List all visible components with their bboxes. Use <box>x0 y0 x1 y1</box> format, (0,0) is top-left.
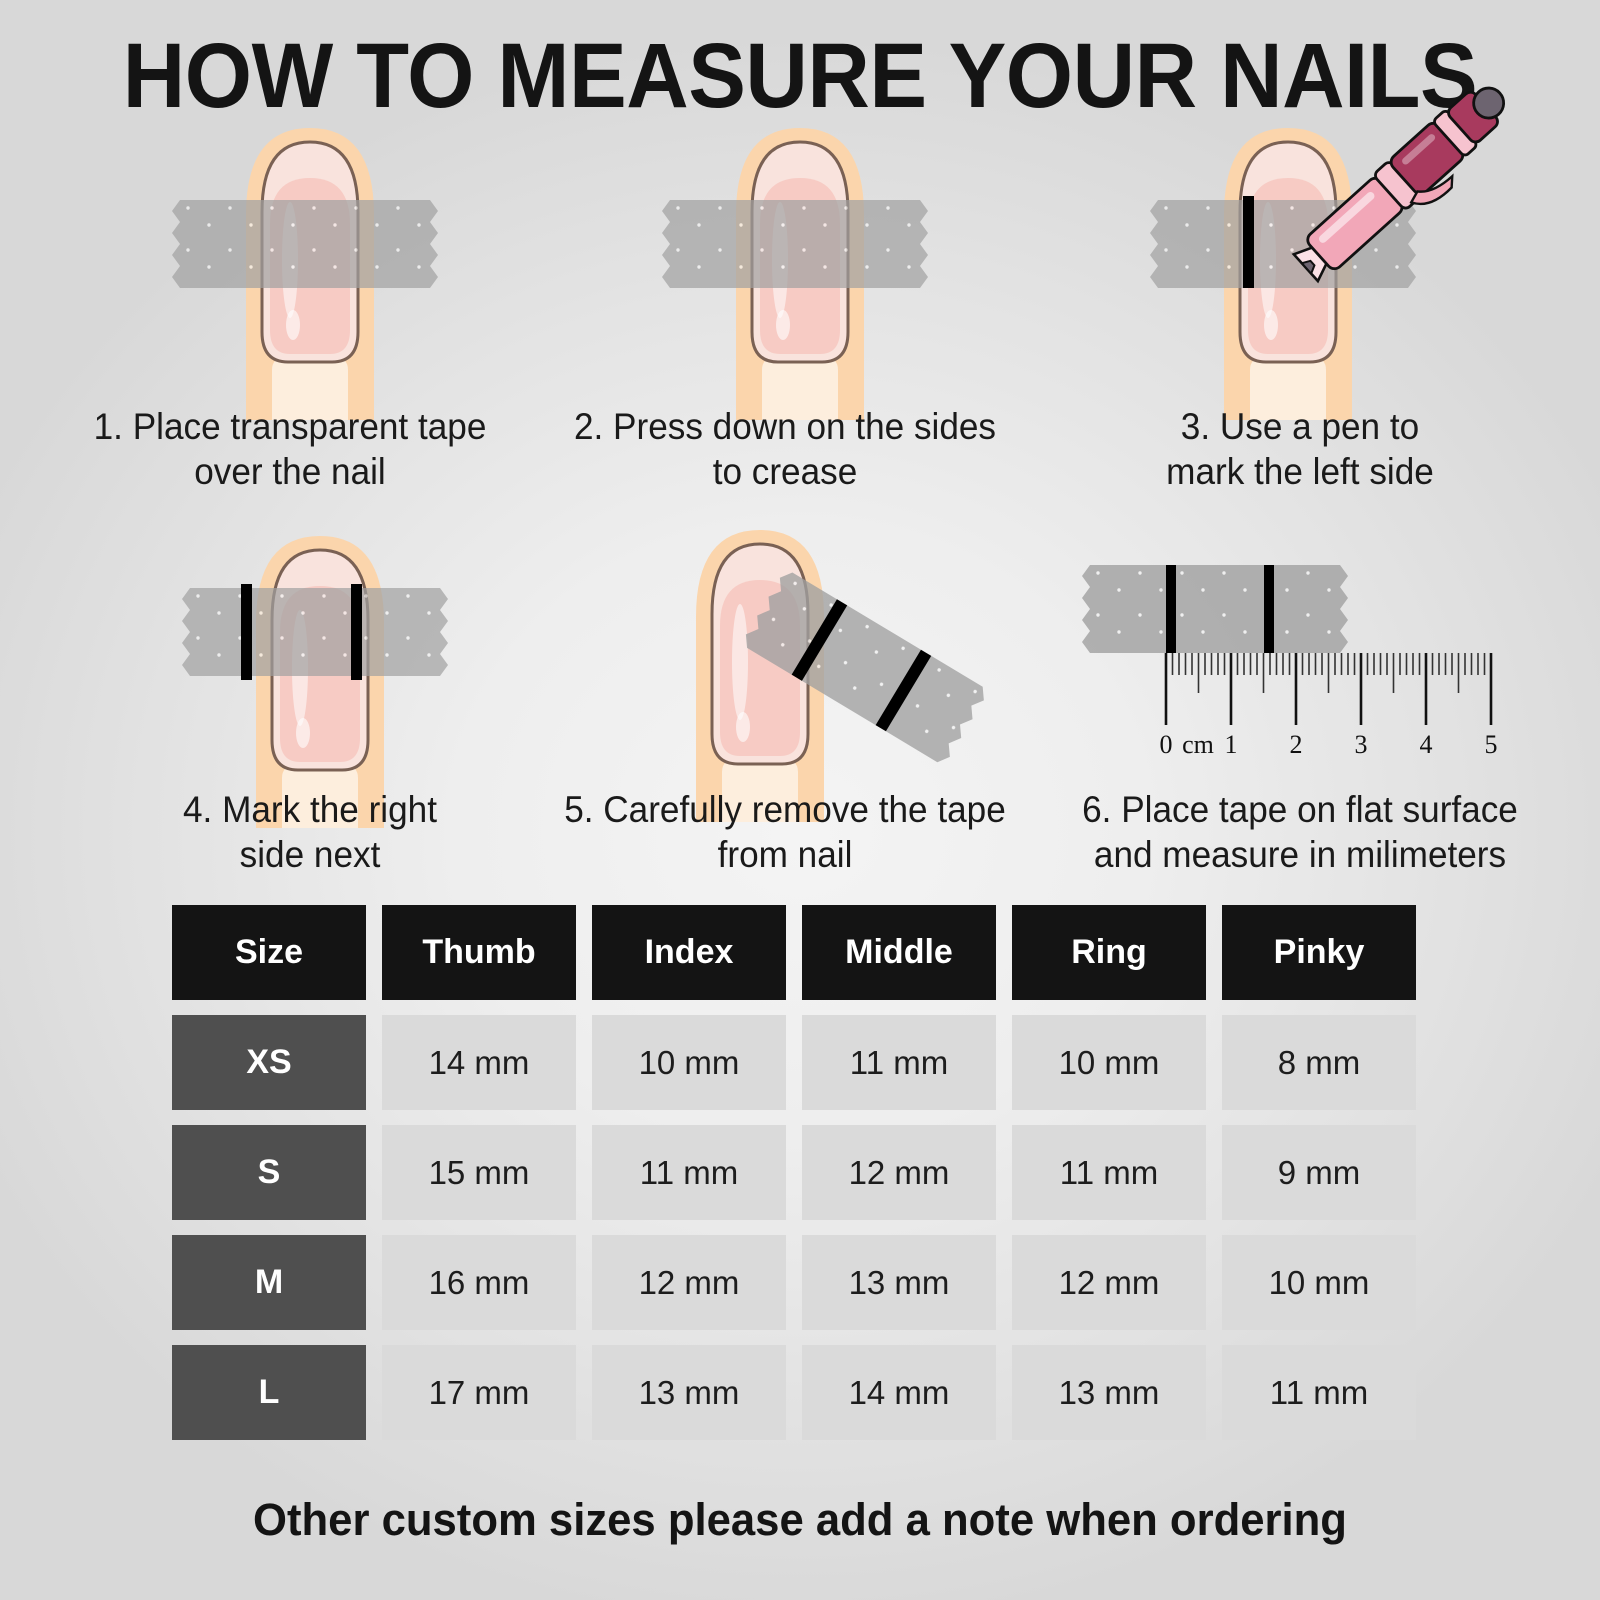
cell-xs-thumb: 14 mm <box>382 1015 576 1110</box>
step-1-caption: 1. Place transparent tape over the nail <box>72 405 509 495</box>
step-1-caption-line2: over the nail <box>72 450 509 495</box>
cell-xs-ring: 10 mm <box>1012 1015 1206 1110</box>
cell-l-ring: 13 mm <box>1012 1345 1206 1440</box>
cell-m-index: 12 mm <box>592 1235 786 1330</box>
step-6-caption-line2: and measure in milimeters <box>1048 833 1552 878</box>
step-4-caption: 4. Mark the right side next <box>120 788 500 878</box>
ruler-scale <box>1166 653 1491 725</box>
right-mark <box>1264 565 1274 653</box>
table-header-row: SizeThumbIndexMiddleRingPinky <box>172 905 1432 1000</box>
table-row: M16 mm12 mm13 mm12 mm10 mm <box>172 1235 1432 1330</box>
pen-marking-left-icon <box>1118 118 1478 410</box>
step-2-caption: 2. Press down on the sides to crease <box>564 405 1007 495</box>
size-label-l: L <box>172 1345 366 1440</box>
step-6-caption-line1: 6. Place tape on flat surface <box>1048 788 1552 833</box>
table-body: XS14 mm10 mm11 mm10 mm8 mmS15 mm11 mm12 … <box>172 1015 1432 1440</box>
cell-m-pinky: 10 mm <box>1222 1235 1416 1330</box>
cell-m-ring: 12 mm <box>1012 1235 1206 1330</box>
two-marks-icon <box>150 508 490 794</box>
ruler-labels: 012345cm <box>1160 730 1498 759</box>
table-row: L17 mm13 mm14 mm13 mm11 mm <box>172 1345 1432 1440</box>
ruler-measure-icon: 012345cm <box>1060 545 1520 770</box>
footer-note: Other custom sizes please add a note whe… <box>24 1494 1576 1546</box>
table-row: XS14 mm10 mm11 mm10 mm8 mm <box>172 1015 1432 1110</box>
cell-xs-middle: 11 mm <box>802 1015 996 1110</box>
cell-s-middle: 12 mm <box>802 1125 996 1220</box>
table-header-size: Size <box>172 905 366 1000</box>
peeling-tape-icon <box>630 508 1030 800</box>
cell-m-middle: 13 mm <box>802 1235 996 1330</box>
ruler-label-3: 3 <box>1355 730 1368 759</box>
left-mark <box>1243 196 1254 288</box>
table-header-thumb: Thumb <box>382 905 576 1000</box>
cell-s-thumb: 15 mm <box>382 1125 576 1220</box>
table-header-pinky: Pinky <box>1222 905 1416 1000</box>
size-chart-table: SizeThumbIndexMiddleRingPinky XS14 mm10 … <box>172 905 1432 1440</box>
cell-xs-pinky: 8 mm <box>1222 1015 1416 1110</box>
table-header-index: Index <box>592 905 786 1000</box>
cell-s-ring: 11 mm <box>1012 1125 1206 1220</box>
infographic-root: HOW TO MEASURE YOUR NAILS <box>0 0 1600 1600</box>
cell-m-thumb: 16 mm <box>382 1235 576 1330</box>
step-2-caption-line1: 2. Press down on the sides <box>564 405 1007 450</box>
cell-s-pinky: 9 mm <box>1222 1125 1416 1220</box>
step-1-caption-line1: 1. Place transparent tape <box>72 405 509 450</box>
cell-l-middle: 14 mm <box>802 1345 996 1440</box>
cell-l-pinky: 11 mm <box>1222 1345 1416 1440</box>
ruler-label-4: 4 <box>1420 730 1433 759</box>
right-mark <box>351 584 362 680</box>
finger-with-creased-tape-icon <box>630 128 970 410</box>
step-4-caption-line2: side next <box>120 833 500 878</box>
left-mark <box>241 584 252 680</box>
step-3-caption-line1: 3. Use a pen to <box>1101 405 1500 450</box>
ruler-label-2: 2 <box>1290 730 1303 759</box>
cell-xs-index: 10 mm <box>592 1015 786 1110</box>
ruler-unit-label: cm <box>1182 730 1214 759</box>
size-label-m: M <box>172 1235 366 1330</box>
size-label-s: S <box>172 1125 366 1220</box>
ruler-label-0: 0 <box>1160 730 1173 759</box>
left-mark <box>1166 565 1176 653</box>
step-5-caption-line2: from nail <box>552 833 1018 878</box>
step-3-caption: 3. Use a pen to mark the left side <box>1101 405 1500 495</box>
table-header-ring: Ring <box>1012 905 1206 1000</box>
cell-l-thumb: 17 mm <box>382 1345 576 1440</box>
table-header-middle: Middle <box>802 905 996 1000</box>
finger-with-tape-icon <box>140 128 480 410</box>
step-5-caption: 5. Carefully remove the tape from nail <box>552 788 1018 878</box>
ruler-label-1: 1 <box>1225 730 1238 759</box>
step-6-caption: 6. Place tape on flat surface and measur… <box>1048 788 1552 878</box>
step-4-caption-line1: 4. Mark the right <box>120 788 500 833</box>
step-5-caption-line1: 5. Carefully remove the tape <box>552 788 1018 833</box>
step-2-caption-line2: to crease <box>564 450 1007 495</box>
size-label-xs: XS <box>172 1015 366 1110</box>
step-3-caption-line2: mark the left side <box>1101 450 1500 495</box>
page-title: HOW TO MEASURE YOUR NAILS <box>48 24 1552 129</box>
ruler-label-5: 5 <box>1485 730 1498 759</box>
cell-l-index: 13 mm <box>592 1345 786 1440</box>
cell-s-index: 11 mm <box>592 1125 786 1220</box>
table-row: S15 mm11 mm12 mm11 mm9 mm <box>172 1125 1432 1220</box>
